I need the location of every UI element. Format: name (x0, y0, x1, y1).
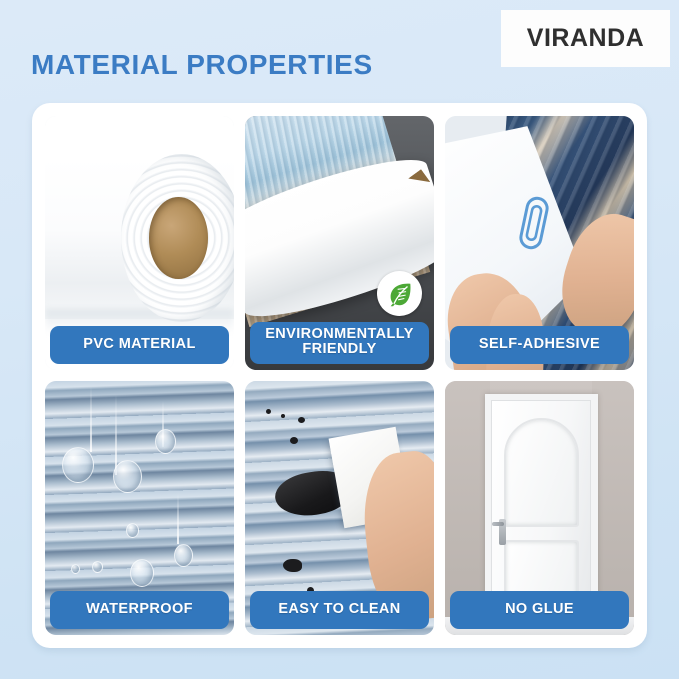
feature-label-text: EASY TO CLEAN (278, 602, 400, 618)
feature-label-text: NO GLUE (505, 602, 574, 618)
feature-label-self-adhesive: SELF-ADHESIVE (450, 326, 629, 364)
roll-tip-shape (408, 170, 430, 192)
feature-cell-no-glue[interactable]: NO GLUE (445, 381, 634, 635)
water-drop-shape (92, 561, 103, 573)
feature-label-waterproof: WATERPROOF (50, 591, 229, 629)
feature-label-environmentally-friendly: ENVIRONMENTALLY FRIENDLY (250, 322, 429, 364)
door-handle-icon (499, 519, 506, 545)
feature-label-easy-to-clean: EASY TO CLEAN (250, 591, 429, 629)
feature-cell-environmentally-friendly[interactable]: ENVIRONMENTALLY FRIENDLY (245, 116, 434, 370)
door-frame-shape (485, 394, 598, 612)
water-drip-shape (115, 394, 117, 475)
stain-shape (283, 559, 302, 572)
roll-core-shape (149, 197, 208, 278)
feature-label-text: SELF-ADHESIVE (479, 337, 600, 353)
feature-label-text: PVC MATERIAL (83, 337, 195, 353)
stain-shape (290, 437, 298, 444)
feature-label-no-glue: NO GLUE (450, 591, 629, 629)
water-drip-shape (177, 493, 179, 544)
material-properties-infographic: VIRANDA MATERIAL PROPERTIES PVC MATERIAL (0, 0, 679, 679)
feature-label-text: ENVIRONMENTALLY FRIENDLY (265, 327, 414, 358)
water-drop-shape (126, 523, 139, 538)
page-title: MATERIAL PROPERTIES (31, 49, 373, 81)
brand-name: VIRANDA (527, 24, 644, 53)
feature-label-pvc-material: PVC MATERIAL (50, 326, 229, 364)
water-drop-shape (130, 559, 154, 587)
feature-grid: PVC MATERIAL (45, 116, 634, 635)
stain-shape (266, 409, 271, 414)
feature-cell-pvc-material[interactable]: PVC MATERIAL (45, 116, 234, 370)
feature-cell-waterproof[interactable]: WATERPROOF (45, 381, 234, 635)
water-drip-shape (90, 386, 92, 452)
stain-shape (298, 417, 305, 423)
feature-cell-easy-to-clean[interactable]: EASY TO CLEAN (245, 381, 434, 635)
door-panel-shape (504, 418, 578, 527)
water-drop-shape (71, 564, 80, 574)
feature-label-text: WATERPROOF (86, 602, 193, 618)
brand-logo: VIRANDA (501, 10, 670, 67)
water-drop-shape (174, 544, 193, 567)
feature-cell-self-adhesive[interactable]: SELF-ADHESIVE (445, 116, 634, 370)
green-leaf-icon (377, 271, 422, 316)
door-leaf-shape (491, 400, 591, 612)
water-drop-shape (113, 460, 142, 493)
water-drop-shape (155, 429, 176, 454)
feature-card: PVC MATERIAL (32, 103, 647, 648)
water-drop-shape (62, 447, 94, 483)
stain-shape (281, 414, 285, 418)
